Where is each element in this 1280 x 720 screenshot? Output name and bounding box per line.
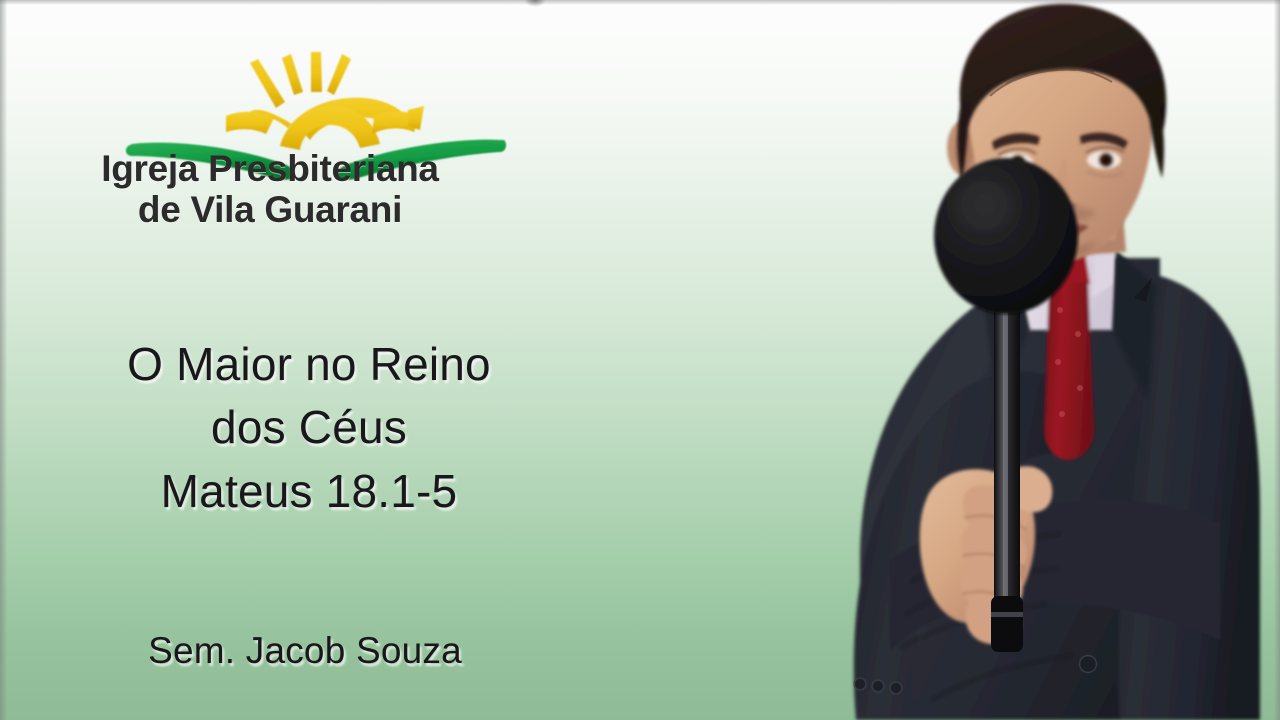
bible-reference: Mateus 18.1-5 (0, 460, 618, 523)
sun-with-rays-icon (226, 52, 424, 150)
church-name-line2: de Vila Guarani (60, 191, 480, 228)
sermon-title-line1: O Maior no Reino (0, 333, 618, 396)
speaker-portrait (560, 0, 1280, 720)
sermon-title-line2: dos Céus (0, 396, 618, 459)
sermon-title-slide: Igreja Presbiteriana de Vila Guarani O M… (0, 0, 1280, 720)
speaker-name: Sem. Jacob Souza (0, 630, 610, 672)
title-column: Igreja Presbiteriana de Vila Guarani O M… (0, 0, 620, 720)
church-name: Igreja Presbiteriana de Vila Guarani (60, 150, 480, 228)
sermon-title-block: O Maior no Reino dos Céus Mateus 18.1-5 (0, 333, 618, 523)
church-name-line1: Igreja Presbiteriana (60, 150, 480, 187)
